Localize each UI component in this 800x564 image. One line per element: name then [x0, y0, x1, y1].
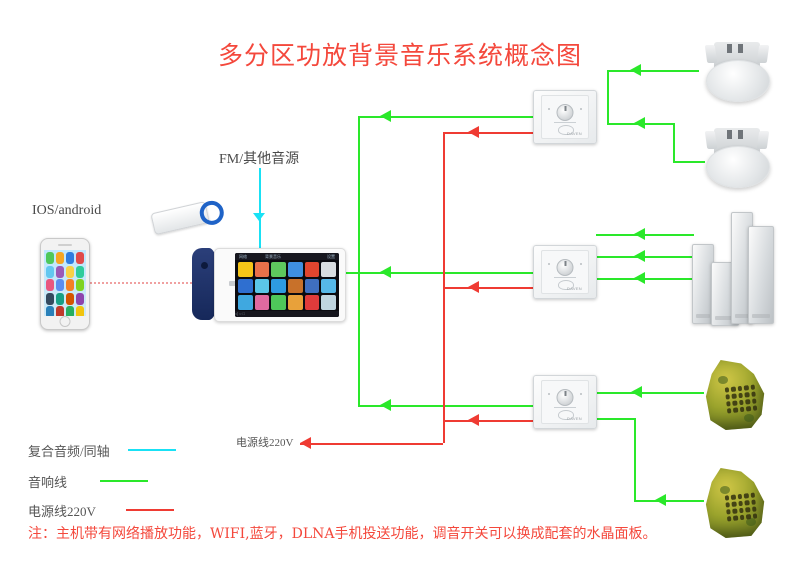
- host-bezel: 网络 背景音乐 设置 ◁ ○ □: [214, 248, 346, 322]
- host-navbar[interactable]: ◁ ○ □: [235, 311, 339, 317]
- host-status-right: 设置: [327, 254, 335, 260]
- ceiling-speaker-2: [704, 128, 770, 190]
- zone-panel-1[interactable]: DAVEN: [533, 90, 597, 144]
- volume-knob-icon[interactable]: [557, 259, 574, 276]
- panel-brand: DAVEN: [567, 131, 582, 136]
- zone-panel-2[interactable]: DAVEN: [533, 245, 597, 299]
- legend-swatch-speaker: [100, 480, 148, 482]
- host-screen[interactable]: 网络 背景音乐 设置 ◁ ○ □: [235, 253, 339, 317]
- speaker-wire-rock-1: [596, 392, 704, 394]
- legend-label-power: 电源线220V: [28, 501, 96, 520]
- speaker-wire-ceiling-1: [607, 70, 699, 72]
- footer-note: 注：主机带有网络播放功能，WIFI,蓝牙，DLNA手机投送功能，调音开关可以换成…: [28, 523, 657, 543]
- power-arrow-panel-1-icon: [468, 126, 479, 138]
- column-speaker-4: [748, 226, 774, 324]
- rock-speaker-1: [704, 360, 768, 430]
- volume-knob-icon[interactable]: [557, 389, 574, 406]
- label-fm-source: FM/其他音源: [219, 148, 299, 168]
- speaker-arrow-rock-1-icon: [631, 386, 642, 398]
- power-arrow-panel-3-icon: [468, 414, 479, 426]
- rock-grille-1: [725, 385, 758, 414]
- label-mobile-source: IOS/android: [32, 203, 101, 219]
- speaker-arrow-ceiling-2-icon: [634, 117, 645, 129]
- speaker-branch-2-vertical: [673, 123, 675, 161]
- legend-label-audio: 复合音频/同轴: [28, 441, 110, 460]
- speaker-arrow-panel-3-icon: [380, 399, 391, 411]
- speaker-wire-column-2: [596, 256, 694, 258]
- audio-line-fm: [259, 168, 261, 248]
- panel-inner: DAVEN: [541, 380, 589, 424]
- rock-grille-2: [725, 493, 758, 522]
- audio-arrow-down-icon: [253, 213, 265, 221]
- host-statusbar: 网络 背景音乐 设置: [235, 253, 339, 260]
- legend-swatch-audio: [128, 449, 176, 451]
- panel-brand: DAVEN: [567, 286, 582, 291]
- speaker-wire-column-3: [596, 278, 700, 280]
- phone-speaker-grill: [58, 244, 72, 246]
- speaker-wire-column-1: [596, 234, 694, 236]
- power-wire-mains: [300, 443, 443, 445]
- host-app-grid[interactable]: [238, 262, 336, 310]
- speaker-arrow-column-3-icon: [634, 272, 645, 284]
- legend-label-speaker: 音响线: [28, 472, 67, 491]
- speaker-arrow-column-2-icon: [634, 250, 645, 262]
- speaker-arrow-rock-2-icon: [655, 494, 666, 506]
- device-iphone[interactable]: [40, 238, 90, 330]
- speaker-branch-rock-vertical: [634, 418, 636, 500]
- panel-inner: DAVEN: [541, 250, 589, 294]
- speaker-wire-rock-2-a: [596, 418, 634, 420]
- speaker-arrow-column-1-icon: [634, 228, 645, 240]
- rock-speaker-2: [704, 468, 768, 538]
- speaker-trunk-vertical: [358, 116, 360, 406]
- host-status-mid: 背景音乐: [265, 254, 281, 260]
- speaker-arrow-panel-1-icon: [380, 110, 391, 122]
- volume-knob-icon[interactable]: [557, 104, 574, 121]
- speaker-wire-rock-2-b: [634, 500, 704, 502]
- speaker-arrow-panel-2-icon: [380, 266, 391, 278]
- ceiling-speaker-1: [704, 42, 770, 104]
- panel-inner: DAVEN: [541, 95, 589, 139]
- speaker-wire-ceiling-2-b: [673, 161, 705, 163]
- phone-screen: [44, 250, 86, 316]
- wireless-link-phone-host: [90, 282, 192, 284]
- power-arrow-mains-icon: [300, 437, 311, 449]
- phone-home-button[interactable]: [60, 316, 71, 327]
- panel-brand: DAVEN: [567, 416, 582, 421]
- speaker-arrow-ceiling-1-icon: [630, 64, 641, 76]
- page-title: 多分区功放背景音乐系统概念图: [0, 36, 800, 72]
- device-usb-drive[interactable]: [150, 199, 219, 235]
- host-status-left: 网络: [239, 254, 247, 260]
- legend-swatch-power: [126, 509, 174, 511]
- speaker-branch-1-vertical: [607, 70, 609, 123]
- device-host[interactable]: 网络 背景音乐 设置 ◁ ○ □: [192, 248, 344, 320]
- label-power-inline: 电源线220V: [236, 434, 293, 450]
- power-arrow-panel-2-icon: [468, 281, 479, 293]
- zone-panel-3[interactable]: DAVEN: [533, 375, 597, 429]
- diagram-canvas: 多分区功放背景音乐系统概念图 IOS/android FM/其他音源 电源线22…: [0, 0, 800, 564]
